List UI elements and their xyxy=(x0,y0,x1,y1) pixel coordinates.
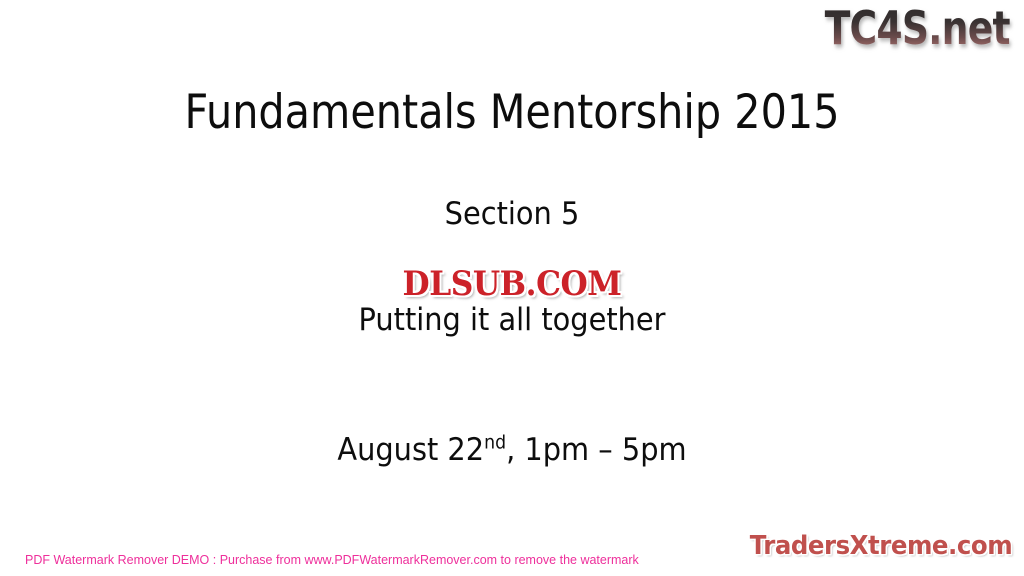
presentation-slide: TC4S.net Fundamentals Mentorship 2015 Se… xyxy=(0,0,1024,576)
pdf-watermark-notice: PDF Watermark Remover DEMO : Purchase fr… xyxy=(25,552,639,568)
slide-date-line: August 22nd, 1pm – 5pm xyxy=(36,430,988,470)
tradersxtreme-brand-logo: TradersXtreme.com xyxy=(750,530,1012,562)
slide-title: Fundamentals Mentorship 2015 xyxy=(61,85,962,141)
slide-date-prefix: August 22 xyxy=(337,432,484,468)
tc4s-brand-logo: TC4S.net xyxy=(825,2,1010,54)
slide-subtitle: Putting it all together xyxy=(36,300,988,340)
slide-date-ordinal-suffix: nd xyxy=(484,433,506,454)
slide-section-label: Section 5 xyxy=(36,194,988,234)
dlsub-watermark-logo: DLSUB.COM xyxy=(403,264,622,304)
slide-date-suffix: , 1pm – 5pm xyxy=(506,432,687,468)
